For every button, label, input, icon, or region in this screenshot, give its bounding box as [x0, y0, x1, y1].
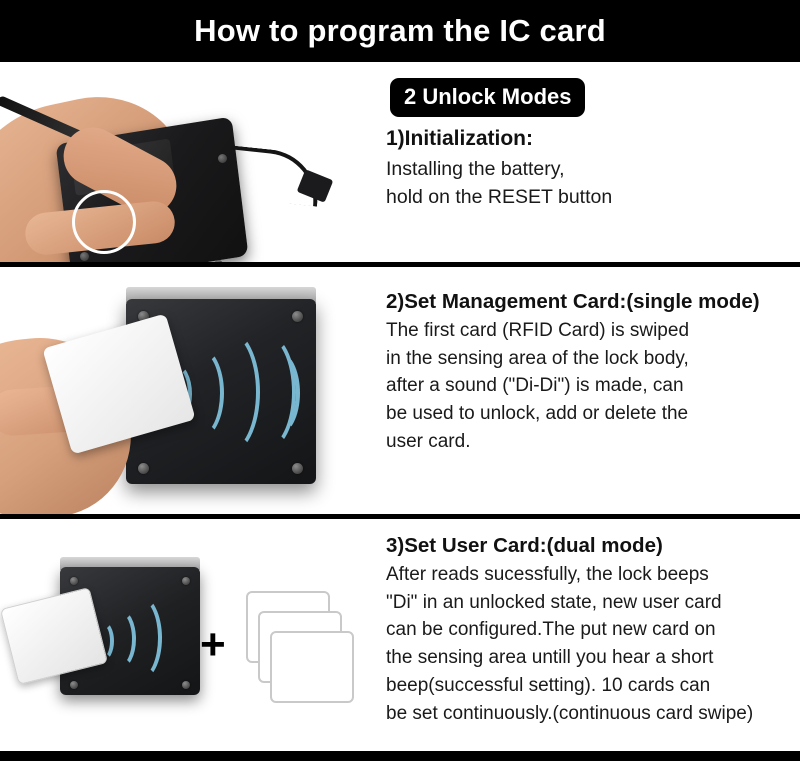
section-management-card: 2)Set Management Card:(single mode) The …	[0, 267, 800, 519]
step2-line-4: be used to unlock, add or delete the	[386, 400, 792, 428]
step2-line-1: The first card (RFID Card) is swiped	[386, 317, 792, 345]
step3-line-3: can be configured.The put new card on	[386, 616, 792, 644]
screw-icon	[182, 577, 190, 585]
step3-line-2: "Di" in an unlocked state, new user card	[386, 589, 792, 617]
section-user-card: + 3)Set User Card:(dual mode) After read…	[0, 519, 800, 751]
step1-line-2: hold on the RESET button	[386, 183, 792, 211]
step3-line-1: After reads sucessfully, the lock beeps	[386, 561, 792, 589]
signal-wave-icon	[256, 351, 300, 435]
photo-management-card	[0, 267, 372, 514]
user-card	[270, 631, 354, 703]
screw-icon	[218, 154, 227, 163]
photo-user-card: +	[0, 519, 372, 751]
step1-title: 1)Initialization:	[386, 126, 792, 152]
screw-icon	[80, 252, 89, 261]
photo-initialization	[0, 62, 372, 262]
screw-icon	[138, 463, 149, 474]
screw-icon	[292, 311, 303, 322]
text-management-card: 2)Set Management Card:(single mode) The …	[372, 267, 800, 514]
screw-icon	[70, 577, 78, 585]
step3-line-5: beep(successful setting). 10 cards can	[386, 672, 792, 700]
screw-icon	[70, 681, 78, 689]
step2-line-2: in the sensing area of the lock body,	[386, 345, 792, 373]
screw-icon	[182, 681, 190, 689]
step3-title: 3)Set User Card:(dual mode)	[386, 533, 792, 558]
step3-line-6: be set continuously.(continuous card swi…	[386, 700, 792, 728]
infographic-page: How to program the IC card 2 Unlock Mode…	[0, 0, 800, 761]
header-bar: How to program the IC card	[0, 0, 800, 62]
screw-icon	[214, 260, 223, 262]
text-user-card: 3)Set User Card:(dual mode) After reads …	[372, 519, 800, 751]
step2-title: 2)Set Management Card:(single mode)	[386, 289, 792, 314]
step2-line-5: user card.	[386, 428, 792, 456]
step2-line-3: after a sound ("Di-Di") is made, can	[386, 372, 792, 400]
plus-icon: +	[200, 623, 226, 667]
text-initialization: 2 Unlock Modes 1)Initialization: Install…	[372, 62, 800, 262]
section-initialization: 2 Unlock Modes 1)Initialization: Install…	[0, 62, 800, 267]
step1-line-1: Installing the battery,	[386, 155, 792, 183]
step3-line-4: the sensing area untill you hear a short	[386, 644, 792, 672]
reset-button-highlight-circle	[72, 190, 136, 254]
page-title: How to program the IC card	[194, 13, 606, 49]
unlock-modes-badge: 2 Unlock Modes	[390, 78, 585, 117]
screw-icon	[292, 463, 303, 474]
